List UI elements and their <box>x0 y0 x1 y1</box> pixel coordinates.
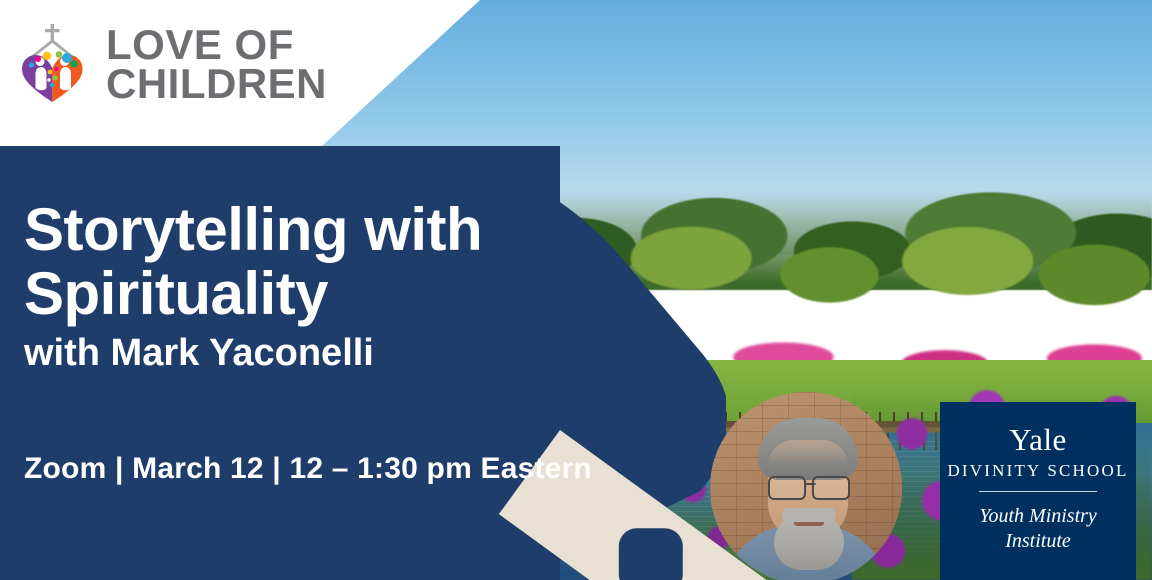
brand-name: LOVE OF CHILDREN <box>106 25 327 104</box>
yale-program-line1: Youth Ministry <box>979 505 1097 527</box>
brand-name-line2: CHILDREN <box>106 64 327 103</box>
brand-logo: LOVE OF CHILDREN <box>14 22 327 106</box>
navy-rounded-square-accent <box>619 528 683 580</box>
portrait-glasses <box>766 476 852 496</box>
portrait-hair <box>758 418 858 480</box>
yale-program-line2: Institute <box>1005 530 1071 552</box>
event-title: Storytelling with Spirituality <box>24 198 482 325</box>
promo-poster: LOVE OF CHILDREN Storytelling with Spiri… <box>0 0 1152 580</box>
glasses-right-lens <box>812 476 850 500</box>
church-heart-logo-icon <box>14 22 92 106</box>
event-subtitle: with Mark Yaconelli <box>24 333 482 375</box>
yale-school-name: DIVINITY SCHOOL <box>947 461 1128 481</box>
title-block: Storytelling with Spirituality with Mark… <box>24 198 482 375</box>
yale-program-name: Youth Ministry Institute <box>979 504 1097 554</box>
glasses-left-lens <box>768 476 806 500</box>
yale-divider <box>979 491 1097 492</box>
event-details: Zoom | March 12 | 12 – 1:30 pm Eastern <box>24 452 592 486</box>
portrait-mustache <box>782 508 836 522</box>
yale-wordmark: Yale <box>1009 424 1066 455</box>
yale-divinity-badge: Yale DIVINITY SCHOOL Youth Ministry Inst… <box>940 402 1136 580</box>
speaker-portrait <box>710 392 902 580</box>
